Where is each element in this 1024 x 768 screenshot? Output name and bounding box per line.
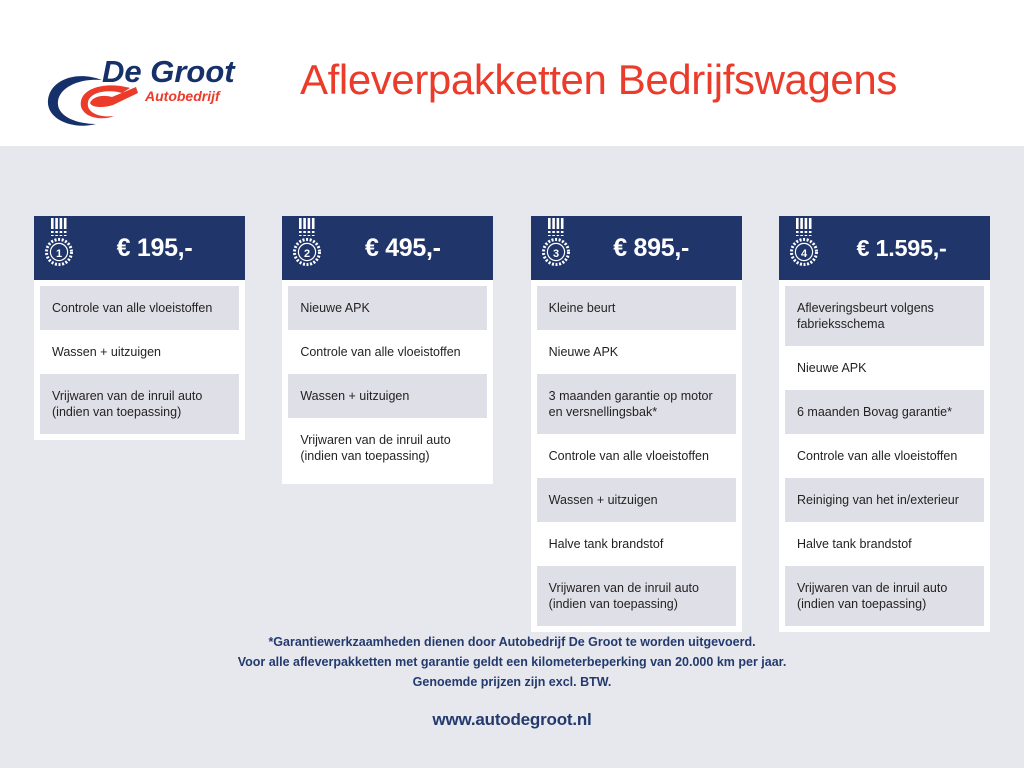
package-card-3: 3 € 895,- Kleine beurt Nieuwe APK 3 maan… (531, 216, 742, 632)
item-line-2: (indien van toepassing) (549, 596, 724, 612)
package-item: Halve tank brandstof (785, 522, 984, 566)
package-item: Vrijwaren van de inruil auto (indien van… (537, 566, 736, 626)
package-price: € 195,- (74, 234, 239, 263)
item-line: Reiniging van het in/exterieur (797, 492, 972, 508)
footer-note-line-2: Voor alle afleverpakketten met garantie … (0, 652, 1024, 672)
item-line: Controle van alle vloeistoffen (549, 448, 724, 464)
website-url[interactable]: www.autodegroot.nl (0, 710, 1024, 730)
package-item: 3 maanden garantie op motor en versnelli… (537, 374, 736, 434)
item-line: Vrijwaren van de inruil auto (549, 580, 724, 596)
package-item: 6 maanden Bovag garantie* (785, 390, 984, 434)
package-header-1: 1 € 195,- (34, 216, 245, 280)
package-item: Controle van alle vloeistoffen (288, 330, 487, 374)
item-line: Vrijwaren van de inruil auto (797, 580, 972, 596)
footer-note-line-3: Genoemde prijzen zijn excl. BTW. (0, 672, 1024, 692)
item-line: Afleveringsbeurt volgens (797, 300, 972, 316)
package-item: Nieuwe APK (537, 330, 736, 374)
package-item: Controle van alle vloeistoffen (537, 434, 736, 478)
item-line-2: en versnellingsbak* (549, 404, 724, 420)
item-line: Vrijwaren van de inruil auto (300, 432, 475, 448)
package-body-3: Kleine beurt Nieuwe APK 3 maanden garant… (531, 280, 742, 632)
package-item: Vrijwaren van de inruil auto (indien van… (785, 566, 984, 626)
item-line: Vrijwaren van de inruil auto (52, 388, 227, 404)
package-item: Afleveringsbeurt volgens fabrieksschema (785, 286, 984, 346)
item-line: Nieuwe APK (549, 344, 724, 360)
medal-icon: 4 (789, 216, 819, 280)
header-band: De Groot Autobedrijf Afleverpakketten Be… (0, 0, 1024, 146)
item-line-2: (indien van toepassing) (300, 448, 475, 464)
item-line-2: (indien van toepassing) (52, 404, 227, 420)
page-title: Afleverpakketten Bedrijfswagens (300, 56, 897, 104)
item-line: 6 maanden Bovag garantie* (797, 404, 972, 420)
item-line: Wassen + uitzuigen (300, 388, 475, 404)
footer-note-line-1: *Garantiewerkzaamheden dienen door Autob… (0, 632, 1024, 652)
package-body-4: Afleveringsbeurt volgens fabrieksschema … (779, 280, 990, 632)
package-card-2: 2 € 495,- Nieuwe APK Controle van alle v… (282, 216, 493, 484)
item-line: Controle van alle vloeistoffen (52, 300, 227, 316)
item-line: Halve tank brandstof (549, 536, 724, 552)
package-body-1: Controle van alle vloeistoffen Wassen + … (34, 280, 245, 440)
package-item: Kleine beurt (537, 286, 736, 330)
package-header-4: 4 € 1.595,- (779, 216, 990, 280)
item-line: 3 maanden garantie op motor (549, 388, 724, 404)
medal-number: 4 (801, 248, 808, 260)
package-item: Reiniging van het in/exterieur (785, 478, 984, 522)
medal-number: 1 (56, 248, 62, 260)
item-line: Wassen + uitzuigen (549, 492, 724, 508)
package-item: Wassen + uitzuigen (537, 478, 736, 522)
package-list: 1 € 195,- Controle van alle vloeistoffen… (34, 216, 990, 632)
package-price: € 1.595,- (819, 235, 984, 262)
medal-number: 2 (304, 248, 310, 260)
medal-icon: 3 (541, 216, 571, 280)
package-body-2: Nieuwe APK Controle van alle vloeistoffe… (282, 280, 493, 484)
item-line: Wassen + uitzuigen (52, 344, 227, 360)
package-card-4: 4 € 1.595,- Afleveringsbeurt volgens fab… (779, 216, 990, 632)
item-line: Controle van alle vloeistoffen (300, 344, 475, 360)
item-line: Nieuwe APK (300, 300, 475, 316)
item-line-2: fabrieksschema (797, 316, 972, 332)
item-line: Nieuwe APK (797, 360, 972, 376)
package-item: Wassen + uitzuigen (40, 330, 239, 374)
logo-subtitle: Autobedrijf (144, 88, 221, 104)
item-line: Controle van alle vloeistoffen (797, 448, 972, 464)
package-price: € 895,- (571, 234, 736, 263)
item-line-2: (indien van toepassing) (797, 596, 972, 612)
medal-icon: 1 (44, 216, 74, 280)
medal-number: 3 (553, 248, 559, 260)
company-logo: De Groot Autobedrijf (40, 48, 245, 130)
package-price: € 495,- (322, 234, 487, 263)
package-item: Nieuwe APK (288, 286, 487, 330)
item-line: Halve tank brandstof (797, 536, 972, 552)
package-item: Nieuwe APK (785, 346, 984, 390)
package-card-1: 1 € 195,- Controle van alle vloeistoffen… (34, 216, 245, 440)
medal-icon: 2 (292, 216, 322, 280)
logo-wordmark: De Groot (102, 54, 236, 89)
package-item: Wassen + uitzuigen (288, 374, 487, 418)
package-item: Controle van alle vloeistoffen (785, 434, 984, 478)
package-item: Controle van alle vloeistoffen (40, 286, 239, 330)
item-line: Kleine beurt (549, 300, 724, 316)
package-item: Vrijwaren van de inruil auto (indien van… (288, 418, 487, 478)
package-header-2: 2 € 495,- (282, 216, 493, 280)
poster-page: De Groot Autobedrijf Afleverpakketten Be… (0, 0, 1024, 768)
footer: *Garantiewerkzaamheden dienen door Autob… (0, 632, 1024, 730)
package-item: Halve tank brandstof (537, 522, 736, 566)
package-item: Vrijwaren van de inruil auto (indien van… (40, 374, 239, 434)
package-header-3: 3 € 895,- (531, 216, 742, 280)
